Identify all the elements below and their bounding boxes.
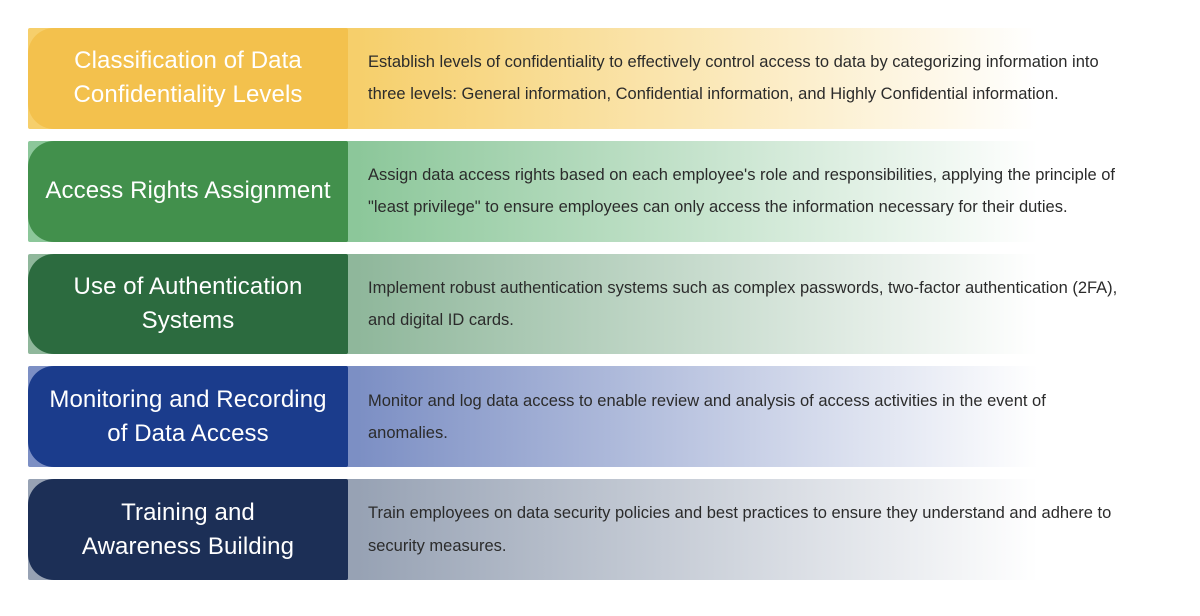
infographic-row: Training and Awareness Building Train em… — [28, 479, 1170, 580]
row-label-tile-4: Monitoring and Recording of Data Access — [28, 366, 348, 467]
row-description-1: Establish levels of confidentiality to e… — [368, 46, 1130, 110]
row-title-2: Access Rights Assignment — [45, 174, 330, 208]
row-description-wrap-3: Implement robust authentication systems … — [348, 254, 1170, 355]
infographic-row: Use of Authentication Systems Implement … — [28, 254, 1170, 355]
row-label-tile-1: Classification of Data Confidentiality L… — [28, 28, 348, 129]
row-label-tile-5: Training and Awareness Building — [28, 479, 348, 580]
row-description-wrap-4: Monitor and log data access to enable re… — [348, 366, 1170, 467]
row-description-wrap-1: Establish levels of confidentiality to e… — [348, 28, 1170, 129]
row-title-3: Use of Authentication Systems — [74, 270, 303, 338]
row-title-5: Training and Awareness Building — [82, 496, 294, 564]
row-description-4: Monitor and log data access to enable re… — [368, 385, 1130, 449]
row-label-tile-3: Use of Authentication Systems — [28, 254, 348, 355]
row-description-2: Assign data access rights based on each … — [368, 159, 1130, 223]
row-title-4: Monitoring and Recording of Data Access — [49, 383, 326, 451]
row-description-5: Train employees on data security policie… — [368, 497, 1130, 561]
row-title-1: Classification of Data Confidentiality L… — [74, 44, 303, 112]
infographic-row: Monitoring and Recording of Data Access … — [28, 366, 1170, 467]
row-description-wrap-2: Assign data access rights based on each … — [348, 141, 1170, 242]
row-label-tile-2: Access Rights Assignment — [28, 141, 348, 242]
row-description-3: Implement robust authentication systems … — [368, 272, 1130, 336]
infographic-row: Access Rights Assignment Assign data acc… — [28, 141, 1170, 242]
infographic-row: Classification of Data Confidentiality L… — [28, 28, 1170, 129]
data-security-measures-infographic: Classification of Data Confidentiality L… — [0, 0, 1200, 616]
row-description-wrap-5: Train employees on data security policie… — [348, 479, 1170, 580]
